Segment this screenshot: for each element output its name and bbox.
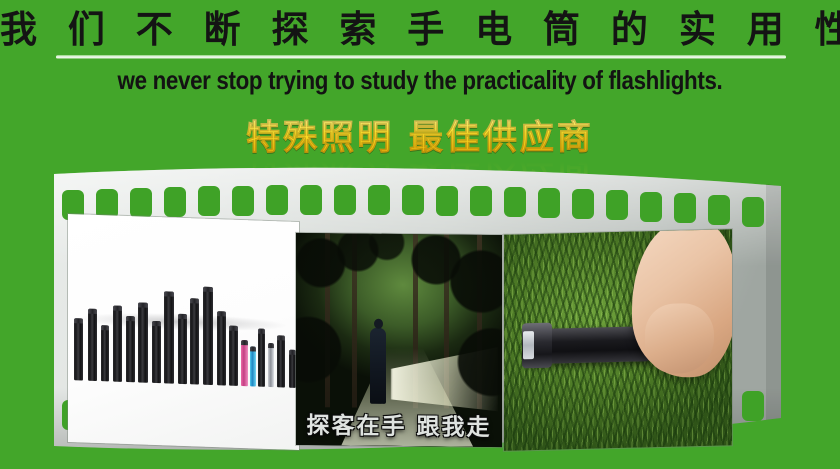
headline-block: 我 们 不 断 探 索 手 电 筒 的 实 用 性 we never stop … <box>0 0 840 108</box>
film-frame-1[interactable] <box>68 214 299 450</box>
flashlight-item <box>88 309 97 381</box>
flashlight-item <box>101 325 109 381</box>
flashlight-item <box>113 306 122 382</box>
frame-caption: 探客在手 跟我走 <box>296 406 502 442</box>
page-subtitle-english: we never stop trying to study the practi… <box>59 64 781 96</box>
flashlight-item <box>178 314 187 384</box>
film-frame-2[interactable]: 探客在手 跟我走 <box>296 233 502 447</box>
subheadline: 特殊照明 最佳供应商 <box>0 118 840 158</box>
flashlight-item <box>289 350 296 388</box>
flashlight-item <box>217 311 226 385</box>
flashlight-item <box>250 346 256 386</box>
title-divider <box>56 55 786 59</box>
film-frame-3[interactable] <box>504 229 732 451</box>
flashlight-item <box>258 329 265 387</box>
fist-knuckles <box>645 303 713 374</box>
flashlight-item <box>152 321 161 383</box>
film-strip: 探客在手 跟我走 <box>40 160 800 460</box>
flashlight-item <box>74 318 83 380</box>
flashlight-item <box>229 326 238 386</box>
flashlight-item <box>203 287 213 385</box>
flashlight-item <box>241 340 248 386</box>
flashlight-item <box>190 298 199 384</box>
page-title: 我 们 不 断 探 索 手 电 筒 的 实 用 性 <box>0 8 840 52</box>
flashlight-item <box>126 316 135 382</box>
banner-root: 我 们 不 断 探 索 手 电 筒 的 实 用 性 we never stop … <box>0 0 840 469</box>
flashlight-item <box>138 302 148 382</box>
flashlight-item <box>268 343 274 387</box>
flashlight-lineup-image <box>68 260 299 388</box>
flashlight-lens <box>523 331 533 359</box>
flashlight-item <box>277 335 285 387</box>
flashlight-item <box>164 291 174 383</box>
